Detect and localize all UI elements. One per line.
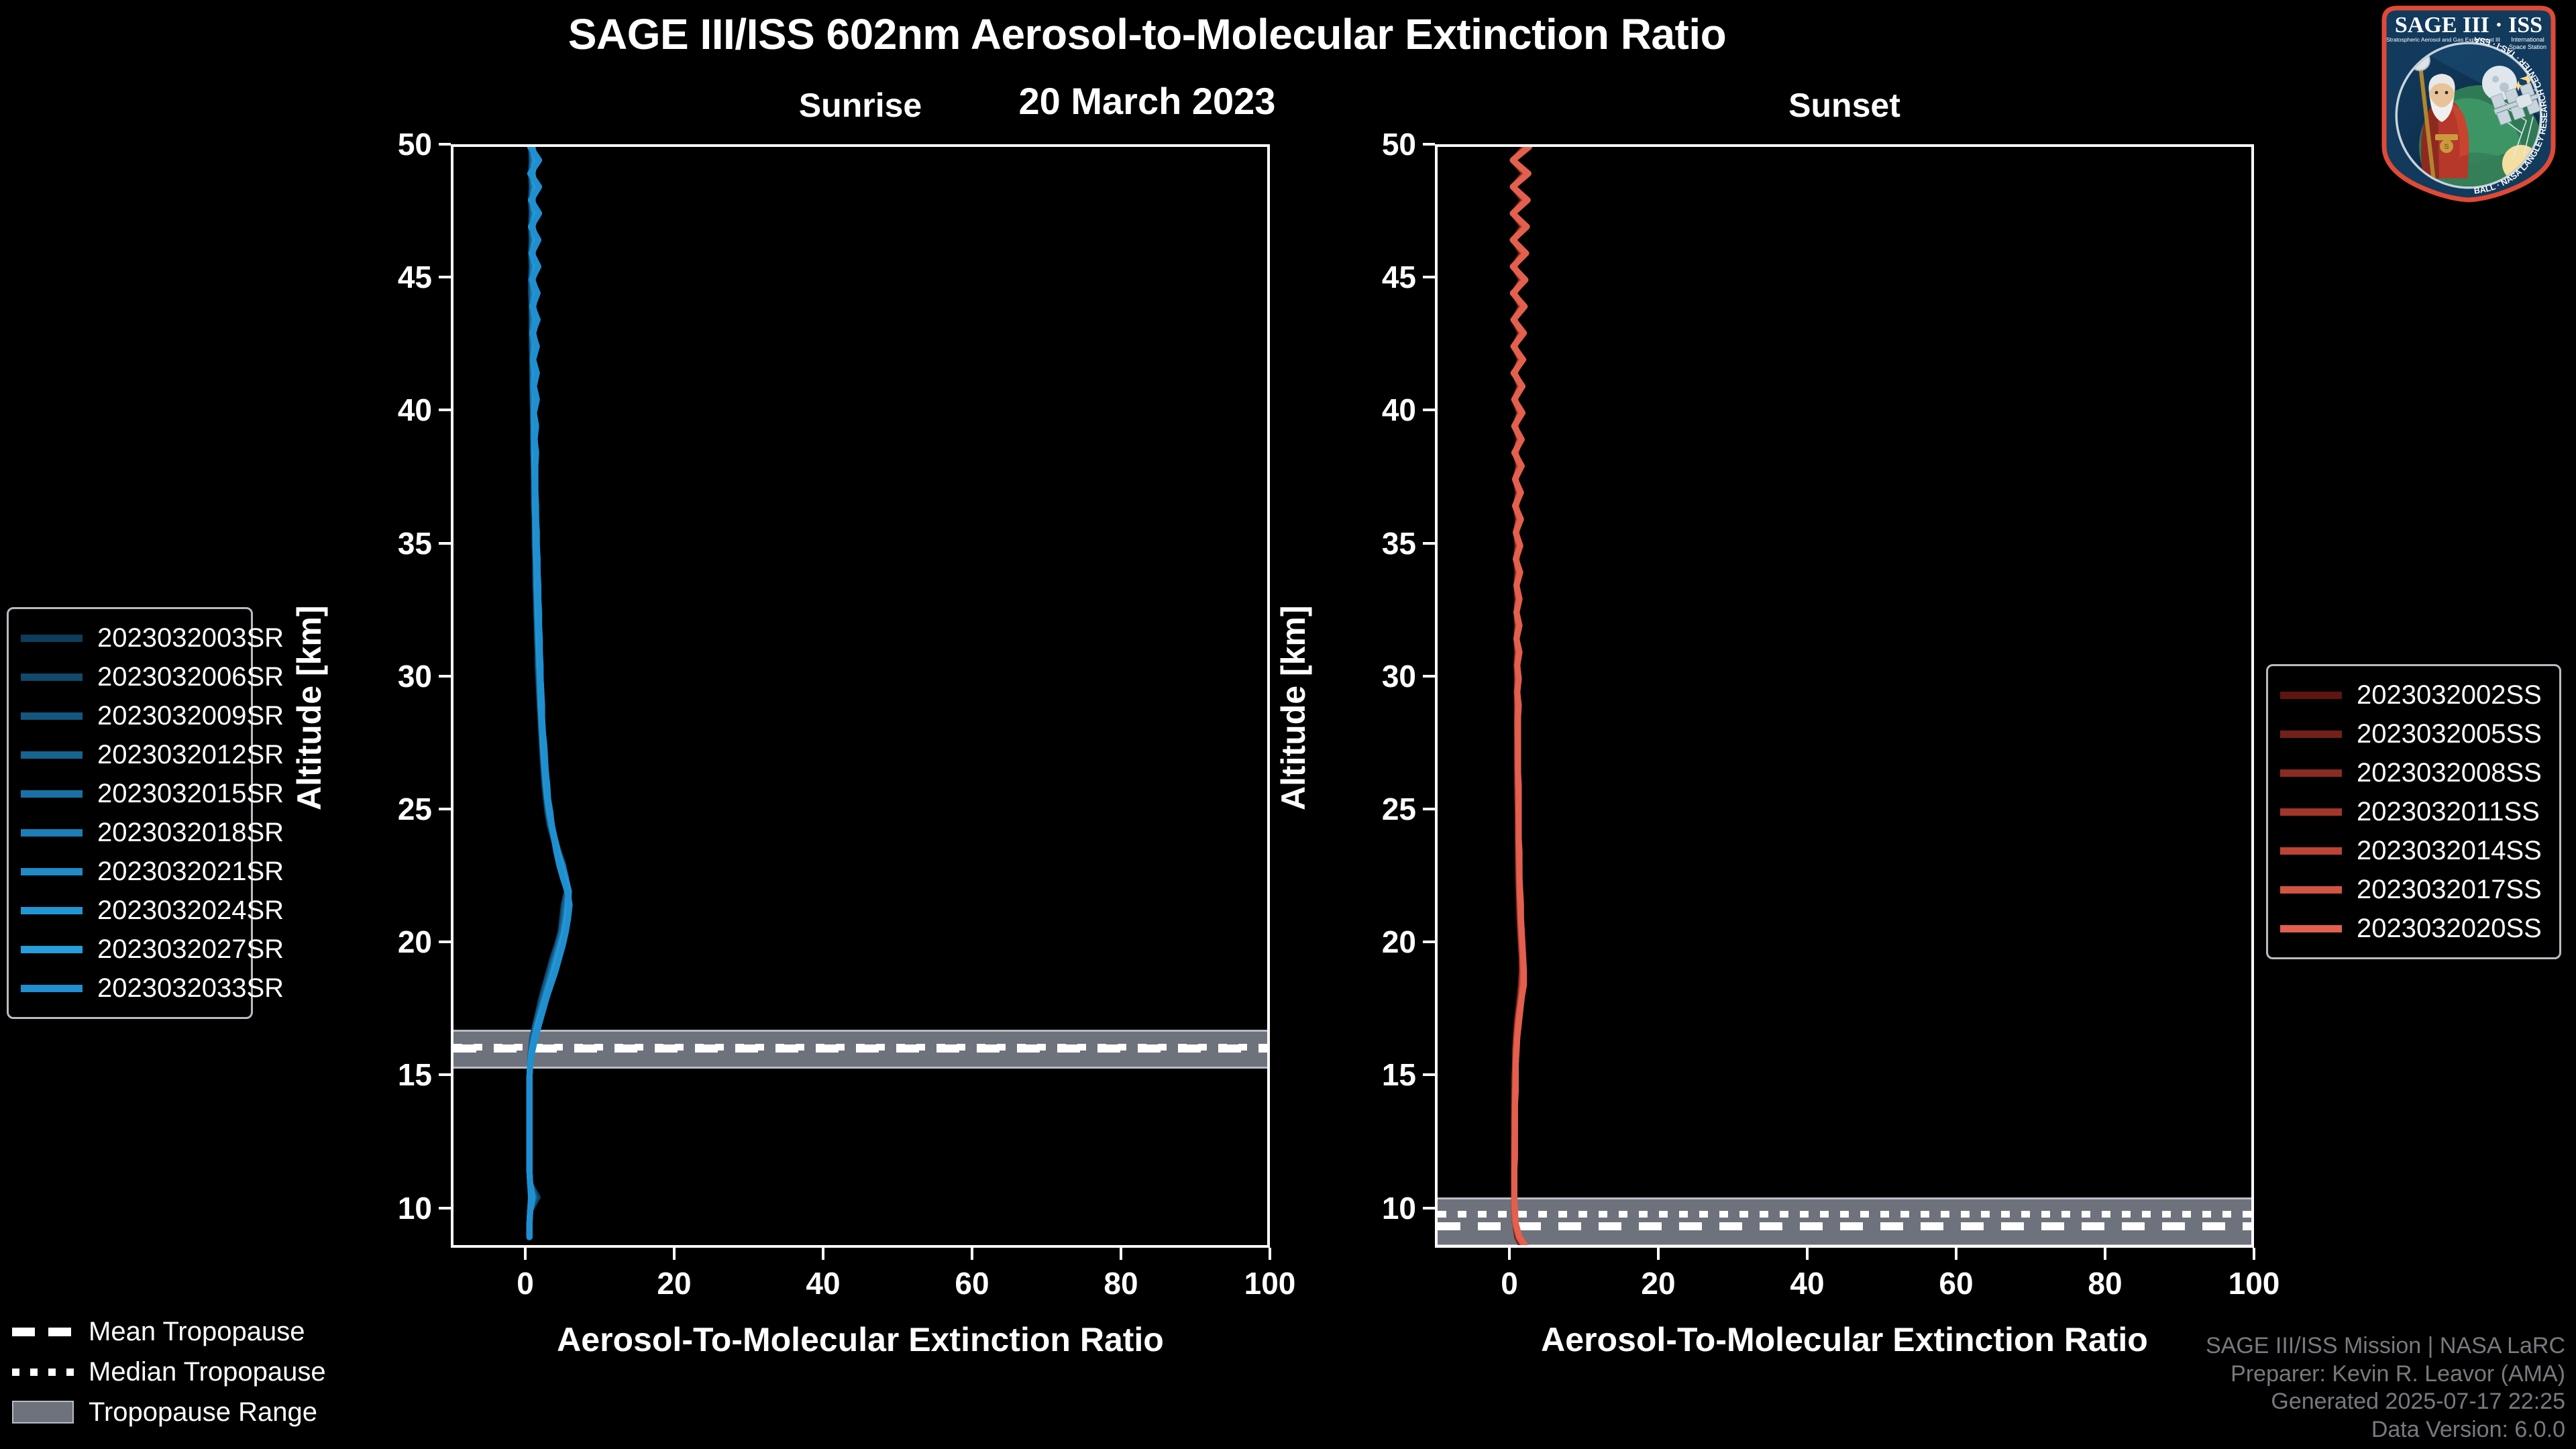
legend-color-swatch bbox=[2280, 692, 2342, 699]
y-axis-tick-label: 10 bbox=[331, 1190, 432, 1226]
legend-color-swatch bbox=[21, 946, 83, 953]
legend-item-median-tropopause: Median Tropopause bbox=[12, 1352, 361, 1392]
y-axis-tick-mark bbox=[1423, 1073, 1435, 1076]
legend-item[interactable]: 2023032005SS bbox=[2280, 714, 2547, 753]
legend-item[interactable]: 2023032024SR bbox=[21, 891, 239, 930]
legend-item[interactable]: 2023032020SS bbox=[2280, 909, 2547, 948]
y-axis-tick-label: 35 bbox=[331, 525, 432, 561]
profile-curves bbox=[1438, 147, 2251, 1245]
legend-item[interactable]: 2023032003SR bbox=[21, 619, 239, 657]
y-axis-tick-label: 40 bbox=[1316, 392, 1416, 428]
y-axis-tick-mark bbox=[439, 409, 451, 411]
x-axis-tick-mark bbox=[971, 1248, 973, 1260]
y-axis-tick-mark bbox=[439, 143, 451, 146]
legend-item[interactable]: 2023032015SR bbox=[21, 774, 239, 813]
y-axis-tick-mark bbox=[1423, 675, 1435, 678]
y-axis-tick-mark bbox=[439, 941, 451, 943]
legend-event-label: 2023032017SS bbox=[2357, 875, 2542, 905]
legend-event-label: 2023032027SR bbox=[97, 934, 284, 965]
x-axis-tick-mark bbox=[673, 1248, 676, 1260]
legend-event-label: 2023032014SS bbox=[2357, 836, 2542, 866]
band-swatch-icon bbox=[12, 1401, 74, 1424]
legend-event-label: 2023032002SS bbox=[2357, 680, 2542, 710]
legend-event-label: 2023032018SR bbox=[97, 818, 284, 848]
legend-label-mean: Mean Tropopause bbox=[89, 1317, 305, 1347]
x-axis-tick-label: 20 bbox=[657, 1265, 691, 1301]
sage-iii-iss-logo: SAGE III · ISS Stratospheric Aerosol and… bbox=[2368, 3, 2569, 204]
y-axis-tick-mark bbox=[1423, 276, 1435, 278]
dashed-line-icon bbox=[12, 1328, 74, 1336]
legend-event-label: 2023032005SS bbox=[2357, 719, 2542, 749]
sunset-plot-area bbox=[1435, 144, 2254, 1248]
x-axis-tick-mark bbox=[1657, 1248, 1660, 1260]
legend-color-swatch bbox=[21, 635, 83, 642]
credit-line-preparer: Preparer: Kevin R. Leavor (AMA) bbox=[2206, 1360, 2565, 1388]
y-axis-tick-label: 25 bbox=[1316, 791, 1416, 827]
y-axis-tick-label: 30 bbox=[1316, 658, 1416, 694]
legend-color-swatch bbox=[2280, 808, 2342, 816]
legend-item[interactable]: 2023032009SR bbox=[21, 696, 239, 735]
x-axis-tick-label: 80 bbox=[2088, 1265, 2122, 1301]
y-axis-tick-mark bbox=[1423, 409, 1435, 411]
y-axis-tick-mark bbox=[1423, 143, 1435, 146]
sunrise-plot-inner bbox=[453, 147, 1267, 1245]
x-axis-tick-mark bbox=[1508, 1248, 1511, 1260]
y-axis-tick-mark bbox=[1423, 941, 1435, 943]
legend-item[interactable]: 2023032027SR bbox=[21, 930, 239, 969]
x-axis-tick-label: 0 bbox=[1501, 1265, 1518, 1301]
y-axis-tick-label: 10 bbox=[1316, 1190, 1416, 1226]
legend-label-median: Median Tropopause bbox=[89, 1357, 326, 1387]
legend-event-label: 2023032015SR bbox=[97, 779, 284, 809]
legend-event-label: 2023032012SR bbox=[97, 740, 284, 770]
legend-color-swatch bbox=[2280, 847, 2342, 855]
sunrise-legend: 2023032003SR2023032006SR2023032009SR2023… bbox=[7, 607, 253, 1019]
x-axis-tick-mark bbox=[1120, 1248, 1122, 1260]
y-axis-label: Altitude [km] bbox=[1274, 605, 1313, 810]
y-axis-tick-mark bbox=[439, 276, 451, 278]
x-axis-tick-mark bbox=[822, 1248, 824, 1260]
y-axis-tick-label: 35 bbox=[1316, 525, 1416, 561]
legend-label-range: Tropopause Range bbox=[89, 1397, 317, 1428]
legend-item[interactable]: 2023032008SS bbox=[2280, 753, 2547, 792]
legend-event-label: 2023032011SS bbox=[2357, 797, 2540, 827]
credit-line-version: Data Version: 6.0.0 bbox=[2206, 1416, 2565, 1444]
sunset-legend: 2023032002SS2023032005SS2023032008SS2023… bbox=[2266, 664, 2561, 959]
legend-event-label: 2023032008SS bbox=[2357, 758, 2542, 788]
x-axis-tick-label: 60 bbox=[1939, 1265, 1973, 1301]
legend-item[interactable]: 2023032002SS bbox=[2280, 676, 2547, 714]
page-title: SAGE III/ISS 602nm Aerosol-to-Molecular … bbox=[0, 9, 2294, 59]
legend-event-label: 2023032021SR bbox=[97, 857, 284, 887]
x-axis-tick-label: 60 bbox=[955, 1265, 989, 1301]
x-axis-tick-label: 40 bbox=[806, 1265, 840, 1301]
legend-item-mean-tropopause: Mean Tropopause bbox=[12, 1311, 361, 1352]
y-axis-tick-label: 20 bbox=[331, 924, 432, 960]
legend-item[interactable]: 2023032033SR bbox=[21, 969, 239, 1008]
y-axis-tick-label: 20 bbox=[1316, 924, 1416, 960]
y-axis-tick-mark bbox=[439, 542, 451, 545]
legend-color-swatch bbox=[21, 985, 83, 992]
legend-event-label: 2023032009SR bbox=[97, 701, 284, 731]
y-axis-tick-mark bbox=[439, 1207, 451, 1210]
x-axis-tick-label: 100 bbox=[1244, 1265, 1296, 1301]
x-axis-tick-mark bbox=[1955, 1248, 1957, 1260]
sunrise-panel-title: Sunrise bbox=[451, 86, 1270, 125]
legend-color-swatch bbox=[2280, 886, 2342, 894]
y-axis-tick-mark bbox=[1423, 542, 1435, 545]
y-axis-tick-label: 40 bbox=[331, 392, 432, 428]
legend-item[interactable]: 2023032012SR bbox=[21, 735, 239, 774]
legend-color-swatch bbox=[2280, 925, 2342, 932]
legend-event-label: 2023032024SR bbox=[97, 896, 284, 926]
y-axis-tick-label: 50 bbox=[1316, 126, 1416, 162]
legend-event-label: 2023032003SR bbox=[97, 623, 284, 653]
credit-line-generated: Generated 2025-07-17 22:25 bbox=[2206, 1388, 2565, 1415]
y-axis-tick-mark bbox=[1423, 1207, 1435, 1210]
x-axis-tick-label: 0 bbox=[517, 1265, 534, 1301]
profile-curves bbox=[453, 147, 1267, 1245]
x-axis-label: Aerosol-To-Molecular Extinction Ratio bbox=[451, 1320, 1270, 1359]
y-axis-tick-label: 50 bbox=[331, 126, 432, 162]
sunset-panel-title: Sunset bbox=[1435, 86, 2254, 125]
x-axis-label: Aerosol-To-Molecular Extinction Ratio bbox=[1435, 1320, 2254, 1359]
tropopause-legend: Mean Tropopause Median Tropopause Tropop… bbox=[12, 1311, 361, 1432]
legend-item[interactable]: 2023032011SS bbox=[2280, 792, 2547, 831]
y-axis-tick-mark bbox=[439, 1073, 451, 1076]
legend-color-swatch bbox=[21, 790, 83, 798]
x-axis-tick-label: 40 bbox=[1790, 1265, 1824, 1301]
legend-item[interactable]: 2023032017SS bbox=[2280, 870, 2547, 909]
legend-event-label: 2023032020SS bbox=[2357, 914, 2542, 944]
x-axis-tick-label: 80 bbox=[1104, 1265, 1138, 1301]
svg-text:S: S bbox=[2444, 143, 2449, 151]
y-axis-tick-label: 30 bbox=[331, 658, 432, 694]
svg-text:International: International bbox=[2511, 36, 2544, 43]
sunset-plot-inner bbox=[1438, 147, 2251, 1245]
legend-event-label: 2023032006SR bbox=[97, 662, 284, 692]
y-axis-tick-label: 25 bbox=[331, 791, 432, 827]
legend-color-swatch bbox=[21, 751, 83, 759]
y-axis-tick-mark bbox=[1423, 808, 1435, 810]
x-axis-tick-mark bbox=[1806, 1248, 1809, 1260]
legend-item-tropopause-range: Tropopause Range bbox=[12, 1392, 361, 1432]
y-axis-tick-label: 15 bbox=[331, 1057, 432, 1093]
legend-item[interactable]: 2023032021SR bbox=[21, 852, 239, 891]
y-axis-label: Altitude [km] bbox=[290, 605, 329, 810]
profile-line bbox=[529, 147, 570, 1237]
legend-color-swatch bbox=[2280, 769, 2342, 777]
legend-event-label: 2023032033SR bbox=[97, 973, 284, 1004]
y-axis-tick-mark bbox=[439, 808, 451, 810]
legend-color-swatch bbox=[21, 712, 83, 720]
legend-color-swatch bbox=[21, 674, 83, 681]
dotted-line-icon bbox=[12, 1368, 74, 1376]
legend-item[interactable]: 2023032014SS bbox=[2280, 831, 2547, 870]
legend-item[interactable]: 2023032006SR bbox=[21, 657, 239, 696]
y-axis-tick-label: 45 bbox=[1316, 259, 1416, 295]
legend-item[interactable]: 2023032018SR bbox=[21, 813, 239, 852]
legend-color-swatch bbox=[2280, 731, 2342, 738]
y-axis-tick-mark bbox=[439, 675, 451, 678]
svg-text:SAGE III · ISS: SAGE III · ISS bbox=[2395, 13, 2542, 38]
credits-block: SAGE III/ISS Mission | NASA LaRC Prepare… bbox=[2206, 1332, 2565, 1444]
y-axis-tick-label: 45 bbox=[331, 259, 432, 295]
x-axis-tick-label: 100 bbox=[2229, 1265, 2280, 1301]
x-axis-tick-mark bbox=[1269, 1248, 1271, 1260]
credit-line-mission: SAGE III/ISS Mission | NASA LaRC bbox=[2206, 1332, 2565, 1360]
y-axis-tick-label: 15 bbox=[1316, 1057, 1416, 1093]
legend-color-swatch bbox=[21, 907, 83, 914]
x-axis-tick-label: 20 bbox=[1641, 1265, 1675, 1301]
x-axis-tick-mark bbox=[2104, 1248, 2106, 1260]
sunrise-plot-area bbox=[451, 144, 1270, 1248]
x-axis-tick-mark bbox=[524, 1248, 527, 1260]
x-axis-tick-mark bbox=[2253, 1248, 2255, 1260]
legend-color-swatch bbox=[21, 868, 83, 875]
legend-color-swatch bbox=[21, 829, 83, 837]
